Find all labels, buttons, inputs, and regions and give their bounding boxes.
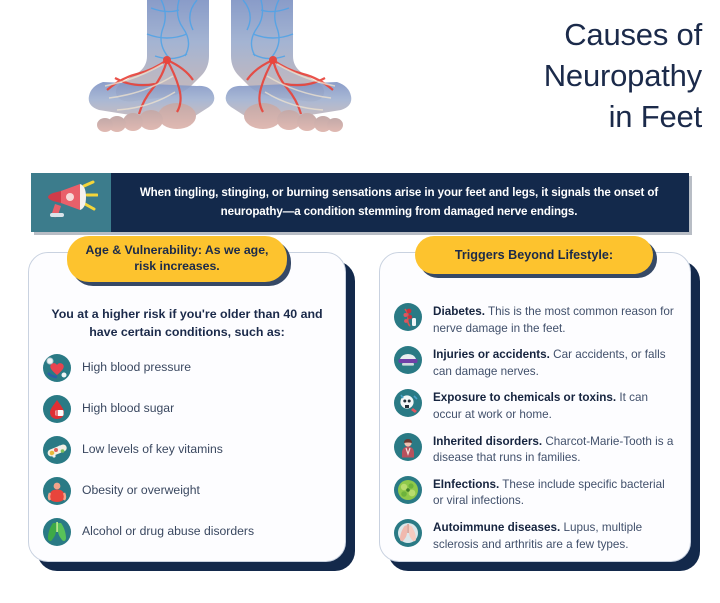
alcohol-drug-lungs-icon [43, 518, 71, 546]
triggers-card: Triggers Beyond Lifestyle: [379, 252, 691, 562]
list-item-term: Inherited disorders. [433, 435, 542, 448]
list-item-text: Inherited disorders. Charcot-Marie-Tooth… [433, 433, 676, 467]
list-item-text: Diabetes. This is the most common reason… [433, 303, 676, 337]
list-item: Inherited disorders. Charcot-Marie-Tooth… [394, 433, 676, 467]
list-item-text: EInfections. These include specific bact… [433, 476, 676, 510]
vitamins-pills-icon [43, 436, 71, 464]
list-item: High blood sugar [43, 395, 331, 423]
list-item-text: Autoimmune diseases. Lupus, multiple scl… [433, 519, 676, 553]
list-item-text: Exposure to chemicals or toxins. It can … [433, 389, 676, 423]
list-item: High blood pressure [43, 354, 331, 382]
banner-text: When tingling, stinging, or burning sens… [121, 184, 677, 222]
list-item: Exposure to chemicals or toxins. It can … [394, 389, 676, 423]
list-item-label: Alcohol or drug abuse disorders [82, 523, 254, 540]
list-item: Alcohol or drug abuse disorders [43, 518, 331, 546]
intro-banner: When tingling, stinging, or burning sens… [31, 173, 689, 232]
infographic-page: Causes of Neuropathy in Feet [0, 0, 720, 603]
list-item-text: Injuries or accidents. Car accidents, or… [433, 346, 676, 380]
list-item-label: High blood sugar [82, 400, 174, 417]
list-item-term: EInfections. [433, 478, 499, 491]
hero-section: Causes of Neuropathy in Feet [0, 0, 720, 172]
list-item: Autoimmune diseases. Lupus, multiple scl… [394, 519, 676, 553]
infections-virus-icon [394, 476, 422, 504]
list-item-label: Obesity or overweight [82, 482, 200, 499]
injury-accident-icon [394, 346, 422, 374]
blood-sugar-drop-icon [43, 395, 71, 423]
list-item: Obesity or overweight [43, 477, 331, 505]
triggers-list: Diabetes. This is the most common reason… [394, 303, 676, 553]
list-item: EInfections. These include specific bact… [394, 476, 676, 510]
left-card-body: You at a higher risk if you're older tha… [28, 252, 346, 562]
list-item: Low levels of key vitamins [43, 436, 331, 464]
list-item: Diabetes. This is the most common reason… [394, 303, 676, 337]
title-line-2: Neuropathy [412, 55, 702, 96]
banner-icon-block [31, 173, 111, 232]
feet-nerve-anatomy-illustration [55, 0, 385, 172]
obesity-body-icon [43, 477, 71, 505]
autoimmune-lungs-icon [394, 519, 422, 547]
list-item-term: Injuries or accidents. [433, 348, 550, 361]
right-card-badge: Triggers Beyond Lifestyle: [415, 236, 653, 274]
blood-pressure-heart-icon [43, 354, 71, 382]
left-card-intro: You at a higher risk if you're older tha… [47, 305, 327, 342]
title-line-1: Causes of [412, 14, 702, 55]
age-vulnerability-card: Age & Vulnerability: As we age, risk inc… [28, 252, 346, 562]
inherited-disorders-dna-icon [394, 433, 422, 461]
page-title: Causes of Neuropathy in Feet [412, 14, 702, 138]
banner-text-block: When tingling, stinging, or burning sens… [111, 173, 689, 232]
title-line-3: in Feet [412, 96, 702, 137]
list-item-term: Diabetes. [433, 305, 485, 318]
list-item: Injuries or accidents. Car accidents, or… [394, 346, 676, 380]
diabetes-glucose-icon [394, 303, 422, 331]
list-item-label: High blood pressure [82, 359, 191, 376]
list-item-term: Exposure to chemicals or toxins. [433, 391, 616, 404]
risk-conditions-list: High blood pressure High blood sugar [43, 354, 331, 546]
right-card-body: Diabetes. This is the most common reason… [379, 252, 691, 562]
list-item-label: Low levels of key vitamins [82, 441, 223, 458]
megaphone-icon [44, 180, 98, 225]
chemicals-toxins-icon [394, 389, 422, 417]
list-item-term: Autoimmune diseases. [433, 521, 560, 534]
left-card-badge: Age & Vulnerability: As we age, risk inc… [67, 236, 287, 282]
